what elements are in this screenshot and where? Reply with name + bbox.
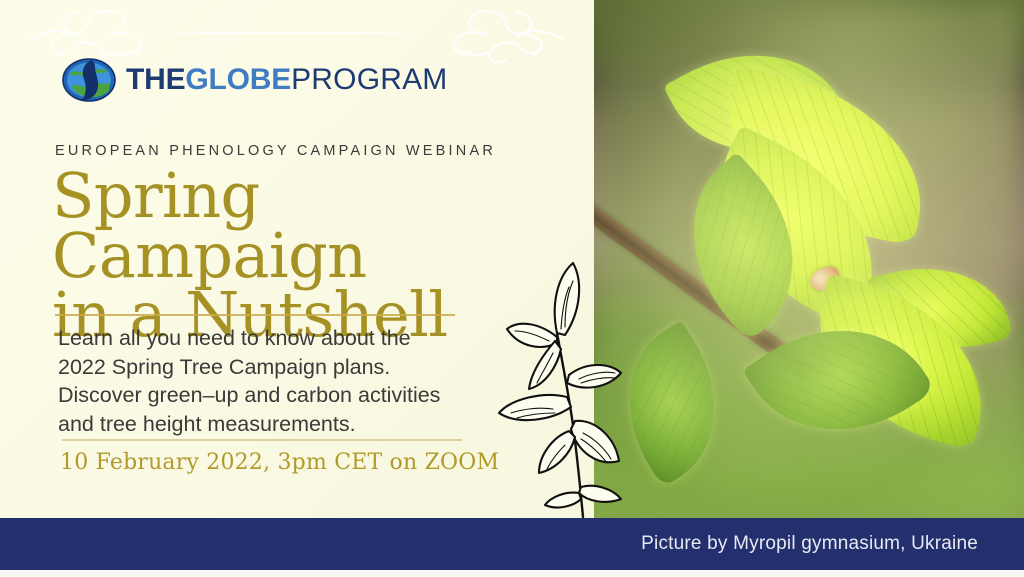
divider-above-date	[62, 439, 462, 441]
globe-program-logo: THEGLOBEPROGRAM	[62, 57, 448, 103]
event-date-time: 10 February 2022, 3pm CET on ZOOM	[60, 450, 499, 475]
body-line-4: and tree height measurements.	[58, 410, 518, 439]
leaves-photo	[594, 0, 1024, 518]
logo-the: THE	[126, 65, 185, 95]
body-line-3: Discover green–up and carbon activities	[58, 381, 518, 410]
body-line-2: 2022 Spring Tree Campaign plans.	[58, 353, 518, 382]
body-copy: Learn all you need to know about the 202…	[58, 324, 518, 438]
ornament-divider-rule	[142, 32, 428, 34]
divider-above-body	[55, 314, 455, 316]
photo-credit-caption: Picture by Myropil gymnasium, Ukraine	[641, 533, 978, 555]
bottom-edge-strip	[0, 570, 1024, 577]
globe-logo-icon	[62, 57, 117, 103]
logo-globe: GLOBE	[185, 65, 291, 95]
headline-line-1: Spring Campaign	[52, 159, 367, 292]
webinar-poster: THEGLOBEPROGRAM EUROPEAN PHENOLOGY CAMPA…	[0, 0, 1024, 577]
logo-program: PROGRAM	[291, 65, 447, 95]
body-line-1: Learn all you need to know about the	[58, 324, 518, 353]
page-title: Spring Campaign in a Nutshell	[52, 166, 592, 345]
eyebrow-text: EUROPEAN PHENOLOGY CAMPAIGN WEBINAR	[55, 143, 496, 159]
